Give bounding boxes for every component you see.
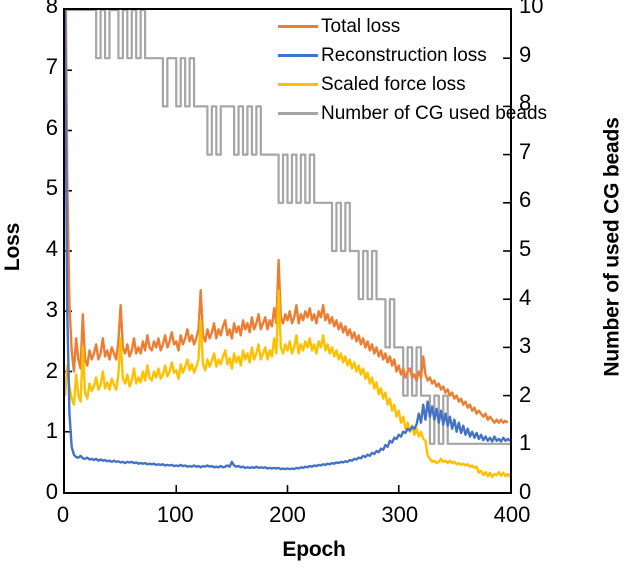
legend-swatch-line-icon xyxy=(278,54,318,57)
legend-item-scaled-force-loss[interactable]: Scaled force loss xyxy=(278,70,510,99)
legend-swatch-line-icon xyxy=(278,112,318,115)
legend-item-number-of-cg-used-beads[interactable]: Number of CG used beads xyxy=(278,99,510,128)
legend-item-label: Number of CG used beads xyxy=(321,104,547,123)
legend-item-label: Total loss xyxy=(321,17,400,36)
x-axis-tick-400: 400 xyxy=(482,502,542,528)
y-axis-right-tick-2: 2 xyxy=(519,382,549,408)
y-axis-right-tick-5: 5 xyxy=(519,236,549,262)
x-axis-tick-0: 0 xyxy=(33,502,93,528)
y-axis-right-tick-10: 10 xyxy=(519,0,549,19)
y-axis-right-tick-3: 3 xyxy=(519,333,549,359)
y-axis-right-ticks: 012345678910 xyxy=(519,0,549,494)
legend-item-total-loss[interactable]: Total loss xyxy=(278,12,510,41)
legend-item-reconstruction-loss[interactable]: Reconstruction loss xyxy=(278,41,510,70)
legend-item-label: Scaled force loss xyxy=(321,75,466,94)
x-axis-tick-200: 200 xyxy=(258,502,318,528)
y-axis-right-tick-1: 1 xyxy=(519,430,549,456)
y-axis-left-tick-1: 1 xyxy=(30,418,58,444)
x-axis-title: Epoch xyxy=(0,538,628,562)
y-axis-left-tick-3: 3 xyxy=(30,297,58,323)
x-axis-tick-100: 100 xyxy=(145,502,205,528)
legend-item-label: Reconstruction loss xyxy=(321,46,487,65)
y-axis-left-tick-2: 2 xyxy=(30,358,58,384)
x-axis-ticks: 0100200300400 xyxy=(0,498,628,534)
y-axis-right-tick-6: 6 xyxy=(519,187,549,213)
y-axis-left-tick-4: 4 xyxy=(30,236,58,262)
y-axis-right-tick-4: 4 xyxy=(519,285,549,311)
y-axis-left-tick-7: 7 xyxy=(30,54,58,80)
loss-curve-chart: Loss Number of used CG beads Epoch 01234… xyxy=(0,0,628,574)
y-axis-left-tick-8: 8 xyxy=(30,0,58,19)
chart-legend: Total lossReconstruction lossScaled forc… xyxy=(278,10,510,128)
y-axis-right-tick-9: 9 xyxy=(519,42,549,68)
y-axis-left-tick-5: 5 xyxy=(30,175,58,201)
y-axis-right-title-text: Number of used CG beads xyxy=(601,117,625,376)
x-axis-tick-300: 300 xyxy=(370,502,430,528)
legend-swatch-line-icon xyxy=(278,83,318,86)
y-axis-left-tick-6: 6 xyxy=(30,115,58,141)
legend-swatch-line-icon xyxy=(278,25,318,28)
y-axis-left-ticks: 012345678 xyxy=(30,0,58,494)
y-axis-right-title: Number of used CG beads xyxy=(596,0,628,494)
y-axis-right-tick-7: 7 xyxy=(519,139,549,165)
y-axis-left-title: Loss xyxy=(0,0,30,494)
y-axis-left-title-text: Loss xyxy=(1,223,25,271)
